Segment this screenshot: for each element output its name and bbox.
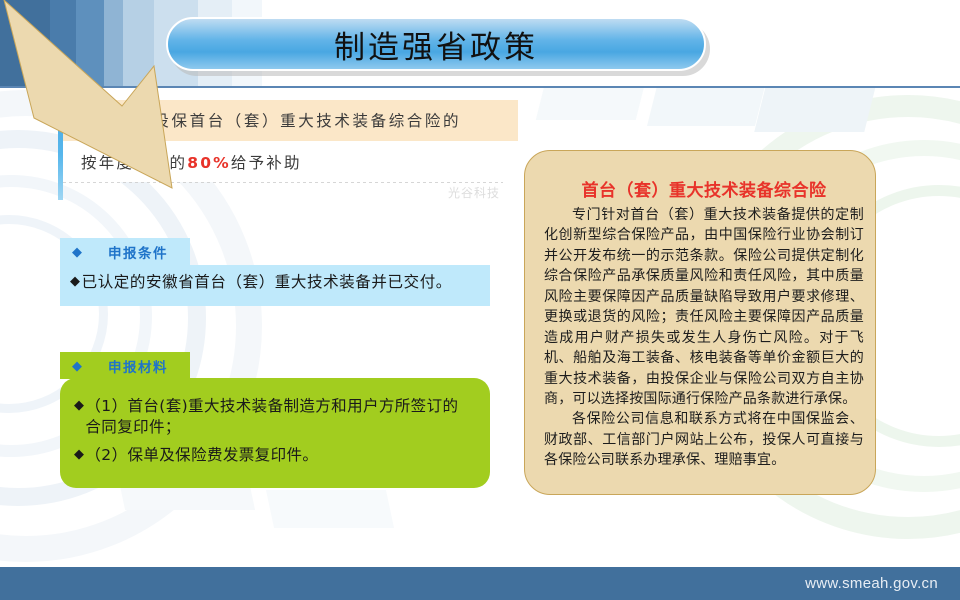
list-item-text: （1）首台(套)重大技术装备制造方和用户方所签订的合同复印件； xyxy=(85,396,474,439)
list-item: ◆ 已认定的安徽省首台（套）重大技术装备并已交付。 xyxy=(70,272,476,293)
diamond-icon: ◆ xyxy=(72,245,82,258)
header-stripe xyxy=(123,0,154,86)
decorative-shape xyxy=(536,86,644,120)
statement-line-2-suffix: 给予补助 xyxy=(231,154,302,172)
header-stripe xyxy=(76,0,104,86)
callout-paragraph: 各保险公司信息和联系方式将在中国保监会、财政部、工信部门户网站上公布，投保人可直… xyxy=(544,409,864,470)
list-item-text: （2）保单及保险费发票复印件。 xyxy=(85,445,318,466)
statement-watermark: 光谷科技 xyxy=(448,184,500,201)
statement-divider xyxy=(63,182,503,183)
header-baseline-rule xyxy=(0,86,960,88)
page-title: 制造强省政策 xyxy=(334,22,538,67)
tab-declaration-conditions-label: 申报条件 xyxy=(108,242,168,262)
list-item: ◆ （1）首台(套)重大技术装备制造方和用户方所签订的合同复印件； xyxy=(74,396,474,439)
list-item: ◆ （2）保单及保险费发票复印件。 xyxy=(74,445,474,466)
callout-title: 首台（套）重大技术装备综合险 xyxy=(544,176,864,201)
statement-line-2: 按年度保费的80%给予补助 xyxy=(63,141,518,182)
statement-line-1: 本省企业投保首台（套）重大技术装备综合险的 xyxy=(63,100,518,141)
decorative-shape xyxy=(266,490,394,528)
header-stripe xyxy=(0,0,50,86)
panel-declaration-conditions: ◆ 已认定的安徽省首台（套）重大技术装备并已交付。 xyxy=(60,265,490,306)
callout-body: 专门针对首台（套）重大技术装备提供的定制化创新型综合保险产品，由中国保险行业协会… xyxy=(544,205,864,471)
diamond-icon: ◆ xyxy=(72,359,82,372)
statement-accent-bar xyxy=(58,100,63,200)
footer-url[interactable]: www.smeah.gov.cn xyxy=(805,575,938,592)
panel-declaration-materials: ◆ （1）首台(套)重大技术装备制造方和用户方所签订的合同复印件； ◆ （2）保… xyxy=(60,378,490,488)
header-stripe xyxy=(50,0,76,86)
decorative-shape xyxy=(754,86,875,132)
callout-paragraph: 专门针对首台（套）重大技术装备提供的定制化创新型综合保险产品，由中国保险行业协会… xyxy=(544,205,864,409)
tab-declaration-materials-label: 申报材料 xyxy=(108,356,168,376)
statement-line-2-prefix: 按年度保费的 xyxy=(81,154,187,172)
section-declaration-conditions: ◆ 申报条件 ◆ 已认定的安徽省首台（套）重大技术装备并已交付。 xyxy=(60,238,490,306)
footer-bar: www.smeah.gov.cn xyxy=(0,567,960,600)
subsidy-percentage: 80% xyxy=(187,154,231,172)
decorative-shape xyxy=(647,86,765,126)
diamond-icon: ◆ xyxy=(74,445,84,465)
section-declaration-materials: ◆ 申报材料 ◆ （1）首台(套)重大技术装备制造方和用户方所签订的合同复印件；… xyxy=(60,352,490,488)
tab-declaration-materials[interactable]: ◆ 申报材料 xyxy=(60,352,190,379)
callout-content: 首台（套）重大技术装备综合险 专门针对首台（套）重大技术装备提供的定制化创新型综… xyxy=(530,176,872,471)
title-pill: 制造强省政策 xyxy=(166,17,706,71)
policy-statement: 本省企业投保首台（套）重大技术装备综合险的 按年度保费的80%给予补助 光谷科技 xyxy=(58,100,518,183)
diamond-icon: ◆ xyxy=(74,396,84,416)
diamond-icon: ◆ xyxy=(70,272,81,292)
header-stripe xyxy=(104,0,123,86)
slide-canvas: 制造强省政策 本省企业投保首台（套）重大技术装备综合险的 按年度保费的80%给予… xyxy=(0,0,960,600)
tab-declaration-conditions[interactable]: ◆ 申报条件 xyxy=(60,238,190,265)
list-item-text: 已认定的安徽省首台（套）重大技术装备并已交付。 xyxy=(82,272,452,293)
